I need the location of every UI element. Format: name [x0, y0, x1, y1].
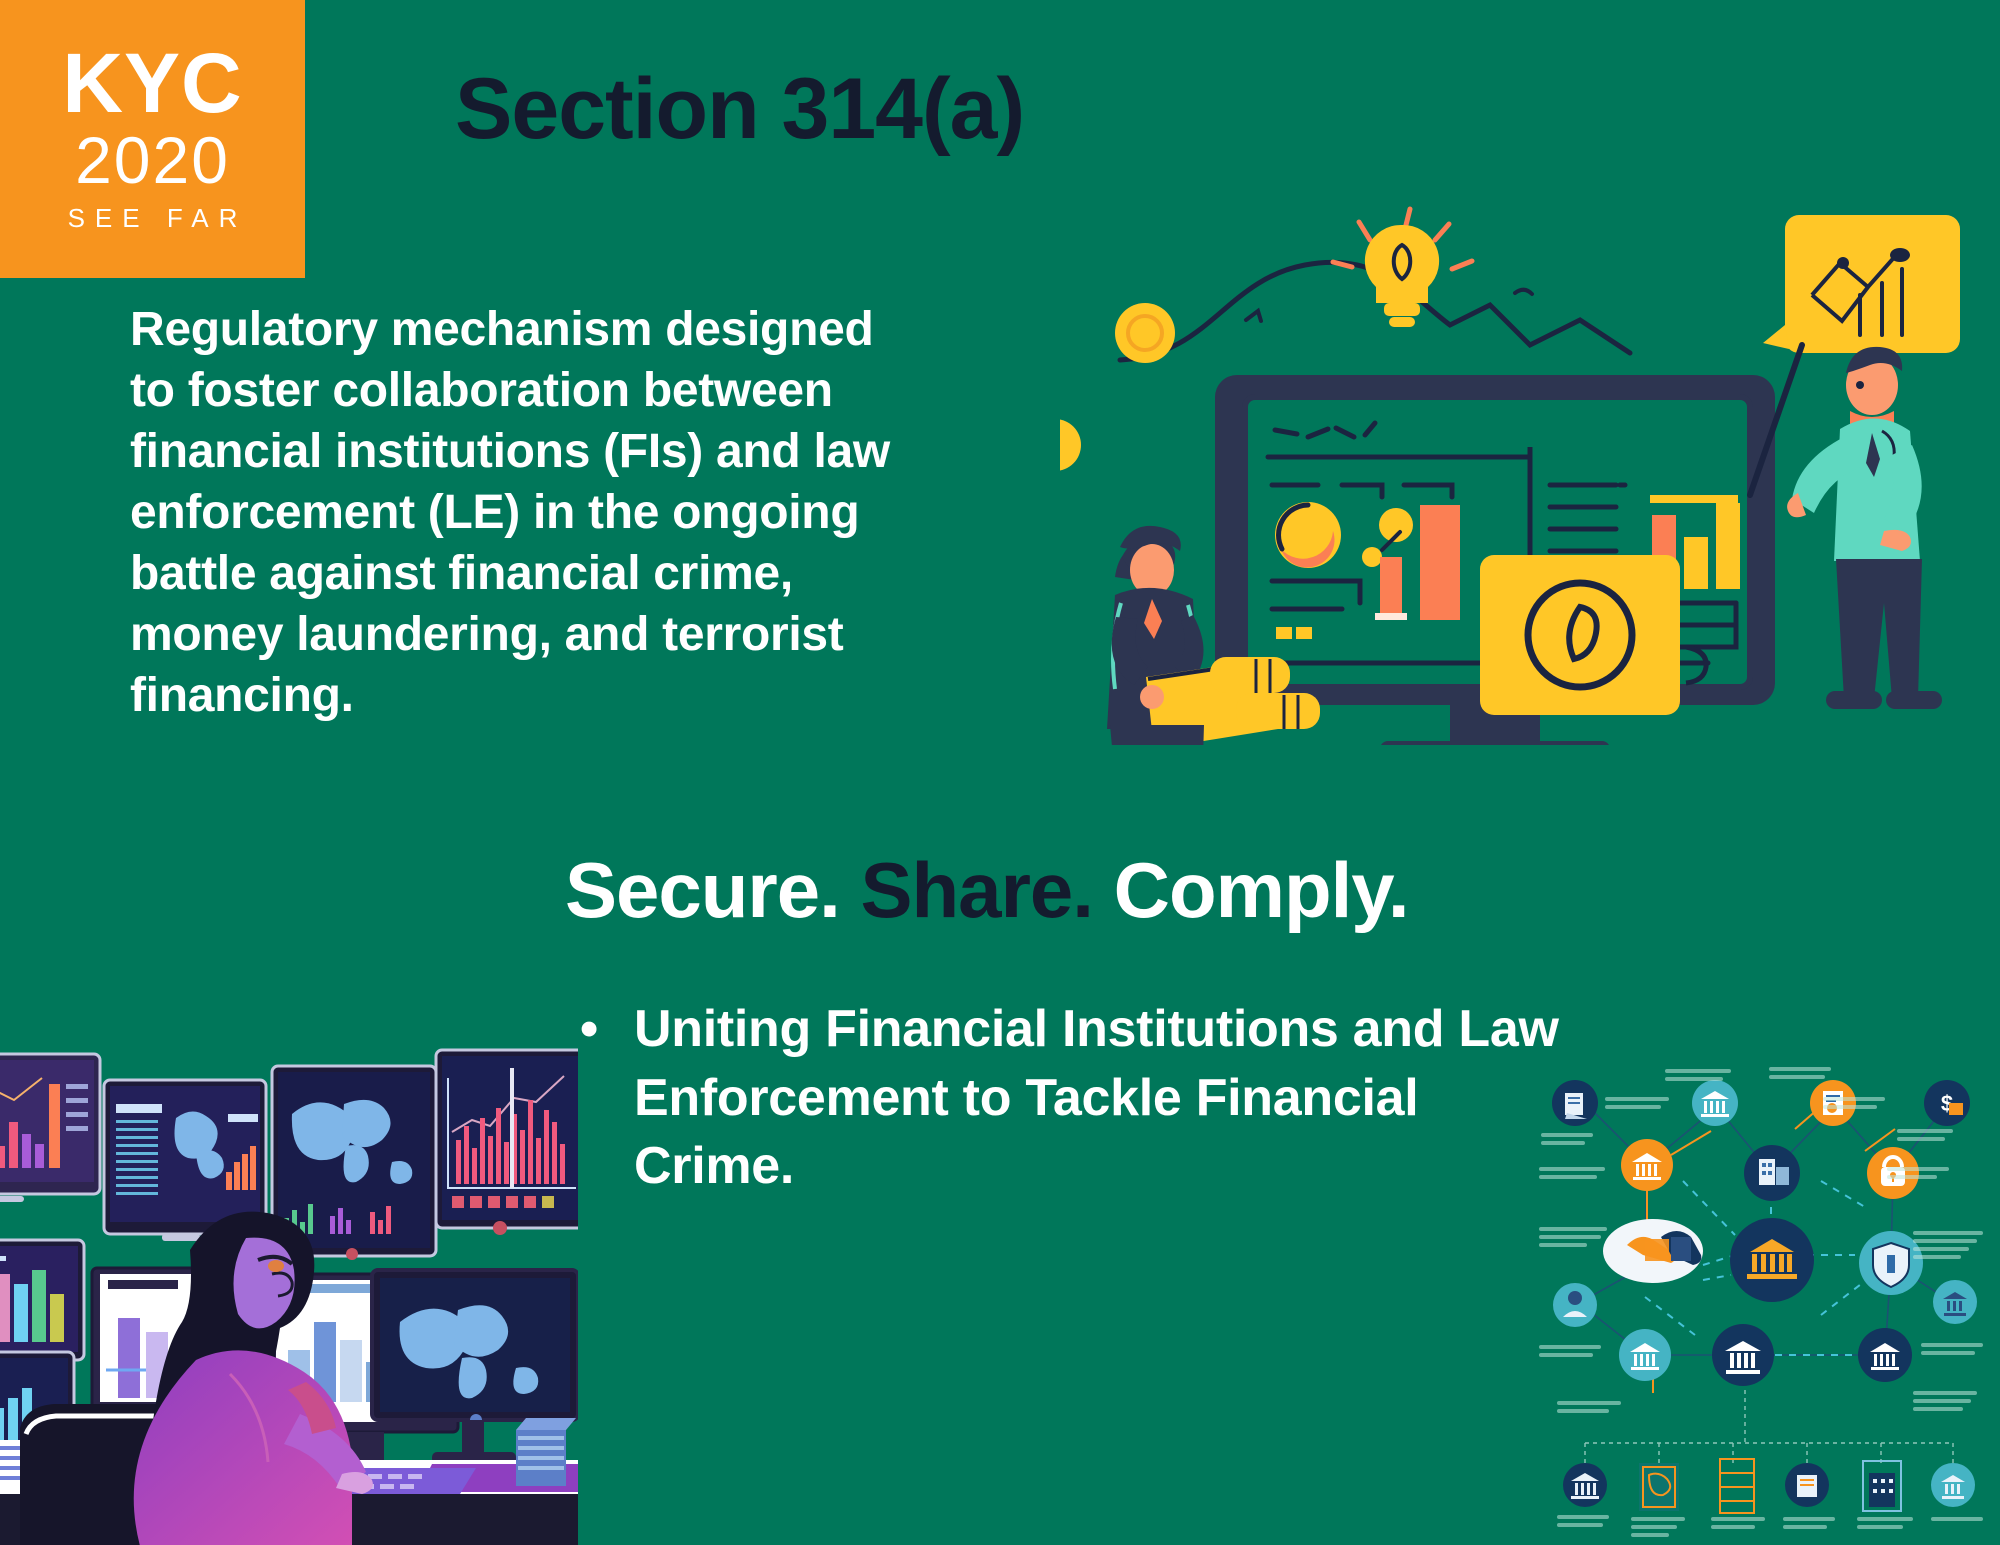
- network-node-handshake: [1603, 1219, 1703, 1283]
- financial-network-diagram: $: [1535, 1055, 2000, 1545]
- network-node-record-navy: [1785, 1463, 1829, 1507]
- poster-canvas: KYC 2020 SEE FAR Section 314(a) Regulato…: [0, 0, 2000, 1545]
- tagline-word-share: Share.: [861, 846, 1093, 934]
- network-node-building-outline: [1863, 1461, 1901, 1511]
- network-node-bank-teal-far-right: [1931, 1463, 1975, 1507]
- monitor-lower-far-left: [0, 1240, 84, 1360]
- kyc2020-logo: KYC 2020 SEE FAR: [0, 0, 305, 278]
- bullet-text: Uniting Financial Institutions and Law E…: [634, 995, 1580, 1201]
- tagline-word-comply: Comply.: [1114, 846, 1409, 934]
- analyst-workstation-illustration: [0, 1022, 578, 1545]
- monitor-top-right: [436, 1050, 578, 1235]
- network-node-bank-teal-1: [1692, 1080, 1738, 1126]
- network-node-doc-navy: [1552, 1080, 1598, 1126]
- network-node-bank-teal-2: [1619, 1329, 1671, 1381]
- chart-card: [1763, 215, 1960, 353]
- diagram-caption-blur: [1539, 1067, 1983, 1537]
- network-node-lock-orange: [1867, 1147, 1919, 1199]
- bullet-list: • Uniting Financial Institutions and Law…: [580, 995, 1580, 1201]
- tagline-word-secure: Secure.: [565, 846, 840, 934]
- person-with-pointer: [1750, 345, 1942, 709]
- coin-icon-lower: [1060, 419, 1081, 471]
- logo-kyc-text: KYC: [62, 44, 242, 124]
- description-paragraph: Regulatory mechanism designed to foster …: [130, 300, 920, 727]
- logo-year-text: 2020: [75, 126, 230, 195]
- network-node-report-orange: [1810, 1080, 1856, 1126]
- dashboard-analytics-illustration: [1060, 185, 1990, 745]
- monitor-top-left: [0, 1054, 100, 1202]
- logo-tagline-text: SEE FAR: [58, 203, 248, 234]
- lightbulb-icon: [1333, 209, 1472, 327]
- network-node-server: [1720, 1459, 1754, 1513]
- network-node-bank-orange: [1621, 1139, 1673, 1191]
- tagline: Secure. Share. Comply.: [565, 845, 1409, 936]
- network-node-building-navy: [1744, 1145, 1800, 1201]
- network-node-bank-navy-bottom: [1712, 1324, 1774, 1386]
- network-node-courthouse: [1563, 1463, 1607, 1507]
- page-title: Section 314(a): [455, 60, 1024, 159]
- network-node-money-navy: $: [1924, 1080, 1970, 1126]
- bullet-marker-icon: •: [580, 995, 634, 1064]
- network-node-document-orange: [1639, 1463, 1679, 1511]
- network-node-central-bank: [1730, 1218, 1814, 1302]
- coin-icon-upper: [1115, 303, 1175, 363]
- user-profile-card: [1480, 555, 1706, 715]
- network-node-bank-teal-right: [1933, 1280, 1977, 1324]
- network-node-bank-navy-right: [1858, 1328, 1912, 1382]
- list-item: • Uniting Financial Institutions and Law…: [580, 995, 1580, 1201]
- network-node-officer-teal: [1553, 1283, 1597, 1327]
